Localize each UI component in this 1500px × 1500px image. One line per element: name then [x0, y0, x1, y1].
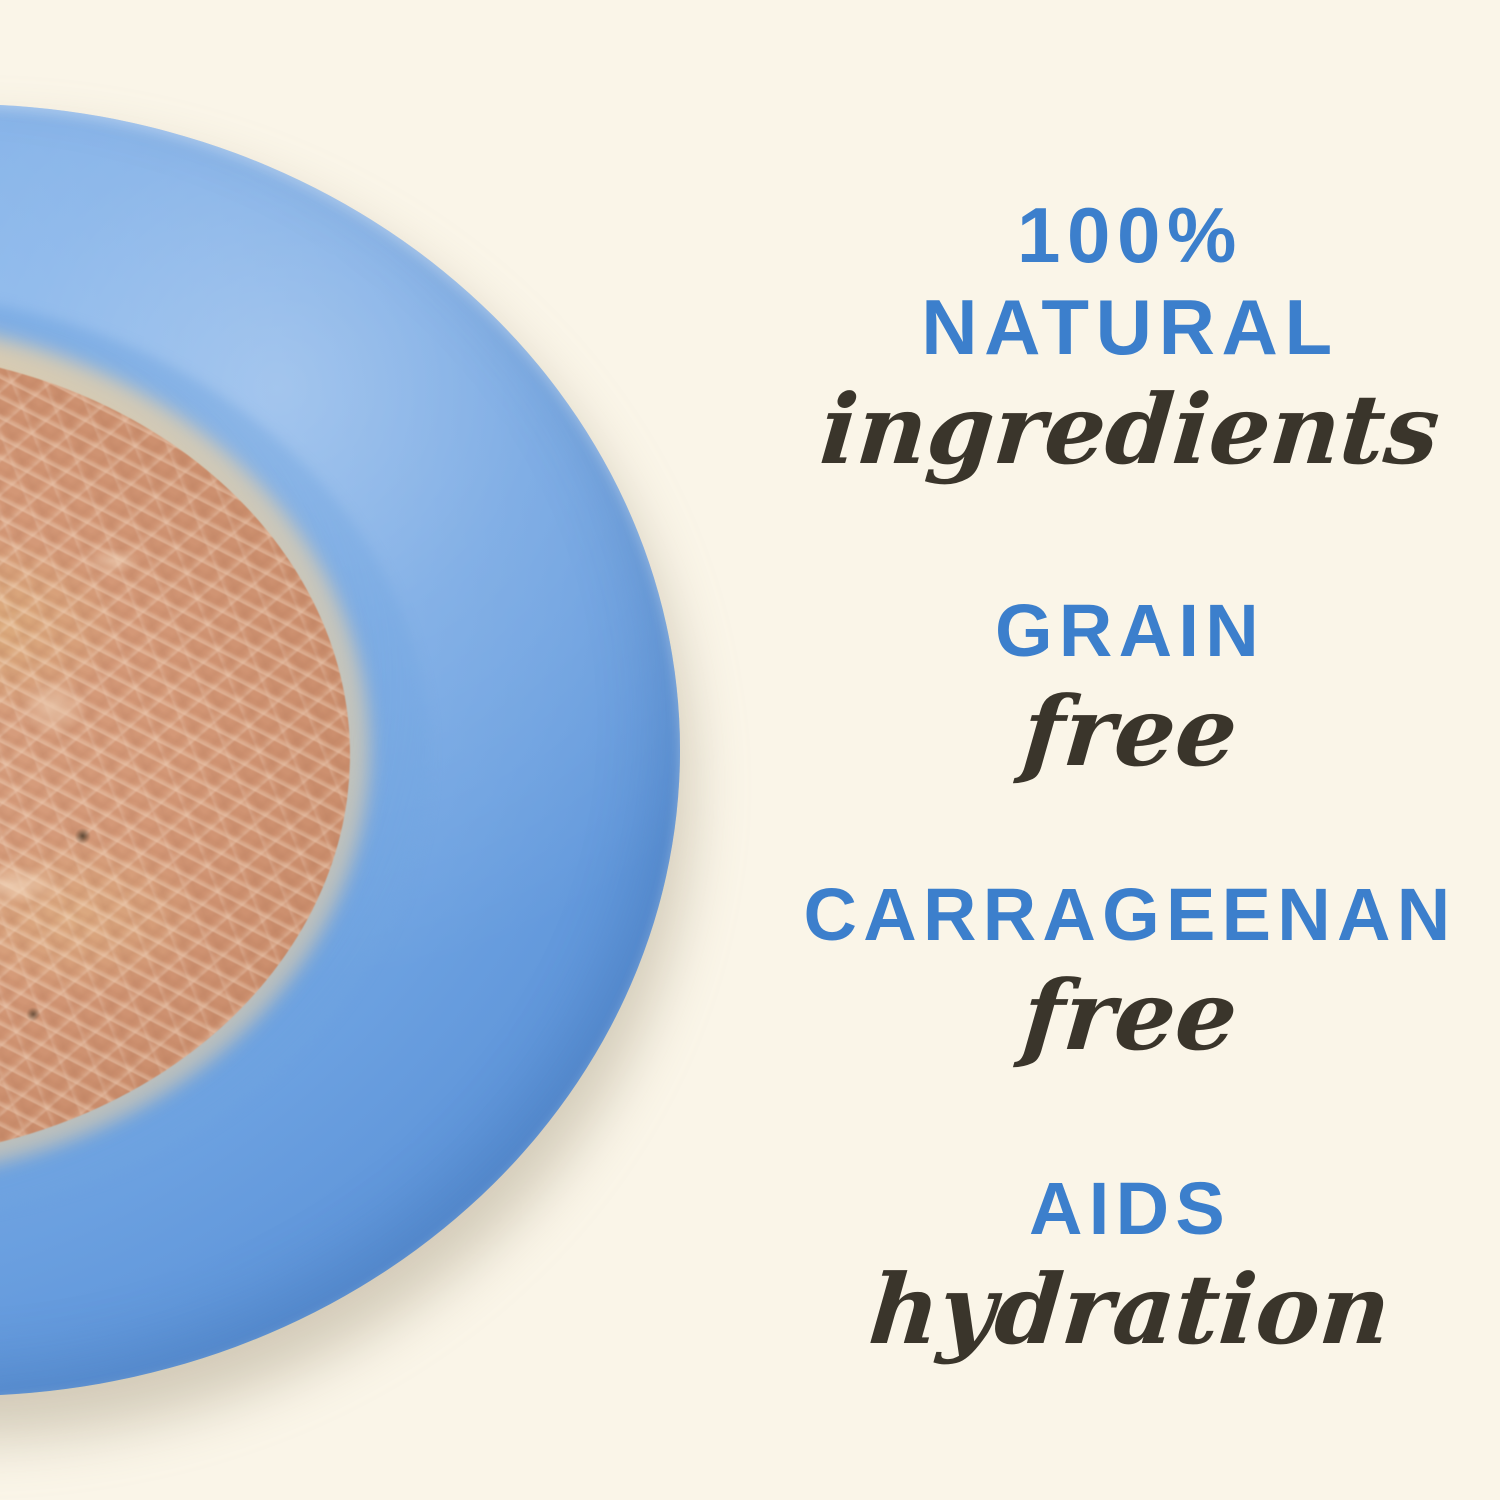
claims-list: 100% NATURAL ingredients GRAIN free CARR… — [760, 0, 1500, 1500]
claim-natural-sub: ingredients — [756, 382, 1500, 478]
claim-aids-hydration: AIDS hydration — [760, 1172, 1500, 1358]
claim-natural-head-line-2: NATURAL — [760, 288, 1500, 366]
claim-carrageenan-free: CARRAGEENAN free — [760, 878, 1500, 1064]
food-photo — [0, 0, 760, 1500]
claim-natural: 100% NATURAL ingredients — [760, 196, 1500, 478]
claim-carrageenan-sub: free — [756, 968, 1500, 1064]
claim-aids-sub: hydration — [756, 1262, 1500, 1358]
claim-grain-head: GRAIN — [760, 594, 1500, 668]
claim-carrageenan-head: CARRAGEENAN — [760, 878, 1500, 952]
claim-grain-free: GRAIN free — [760, 594, 1500, 780]
claim-grain-sub: free — [756, 684, 1500, 780]
shredded-meat-mound — [0, 350, 350, 1160]
claim-aids-head: AIDS — [760, 1172, 1500, 1246]
product-feature-panel: 100% NATURAL ingredients GRAIN free CARR… — [0, 0, 1500, 1500]
claim-natural-head-line-1: 100% — [760, 196, 1500, 274]
